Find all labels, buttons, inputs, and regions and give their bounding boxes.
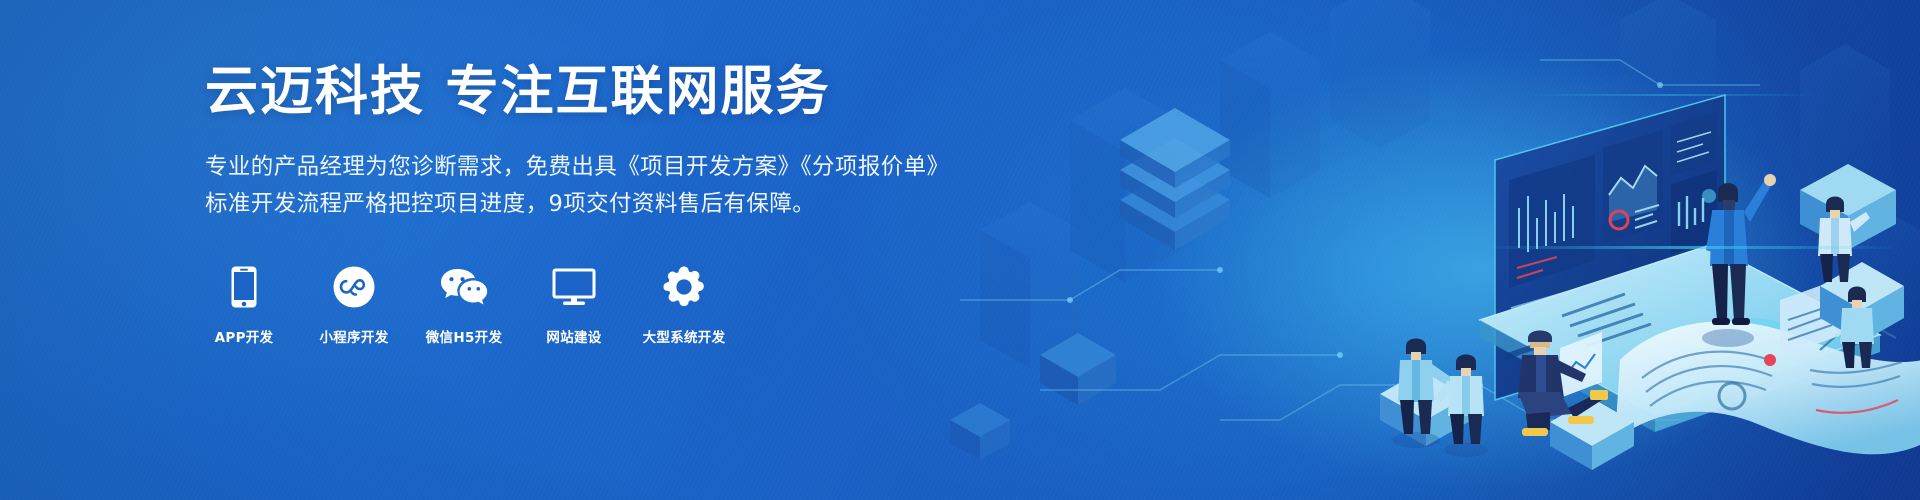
subtitle-line-2: 标准开发流程严格把控项目进度，9项交付资料售后有保障。 bbox=[205, 186, 985, 222]
service-label: 微信H5开发 bbox=[426, 326, 503, 346]
page-title: 云迈科技 专注互联网服务 bbox=[205, 62, 985, 121]
service-item-app[interactable]: APP开发 bbox=[205, 264, 283, 346]
mobile-phone-icon bbox=[231, 264, 257, 310]
banner-content: 云迈科技 专注互联网服务 专业的产品经理为您诊断需求，免费出具《项目开发方案》《… bbox=[205, 62, 985, 346]
mini-program-icon bbox=[333, 264, 375, 310]
promo-banner: 云迈科技 专注互联网服务 专业的产品经理为您诊断需求，免费出具《项目开发方案》《… bbox=[0, 0, 1920, 500]
service-list: APP开发 小程序开发 bbox=[205, 264, 985, 346]
monitor-icon bbox=[552, 264, 596, 310]
service-label: APP开发 bbox=[215, 326, 274, 346]
gear-icon bbox=[663, 264, 705, 310]
service-item-large-system[interactable]: 大型系统开发 bbox=[645, 264, 723, 346]
banner-subtitle: 专业的产品经理为您诊断需求，免费出具《项目开发方案》《分项报价单》 标准开发流程… bbox=[205, 149, 985, 222]
service-item-mini-program[interactable]: 小程序开发 bbox=[315, 264, 393, 346]
isometric-technology-illustration bbox=[920, 0, 1920, 500]
service-label: 网站建设 bbox=[546, 326, 601, 346]
wechat-icon bbox=[440, 264, 488, 310]
service-label: 大型系统开发 bbox=[643, 326, 726, 346]
service-item-website[interactable]: 网站建设 bbox=[535, 264, 613, 346]
service-label: 小程序开发 bbox=[320, 326, 389, 346]
service-item-wechat-h5[interactable]: 微信H5开发 bbox=[425, 264, 503, 346]
subtitle-line-1: 专业的产品经理为您诊断需求，免费出具《项目开发方案》《分项报价单》 bbox=[205, 149, 985, 185]
